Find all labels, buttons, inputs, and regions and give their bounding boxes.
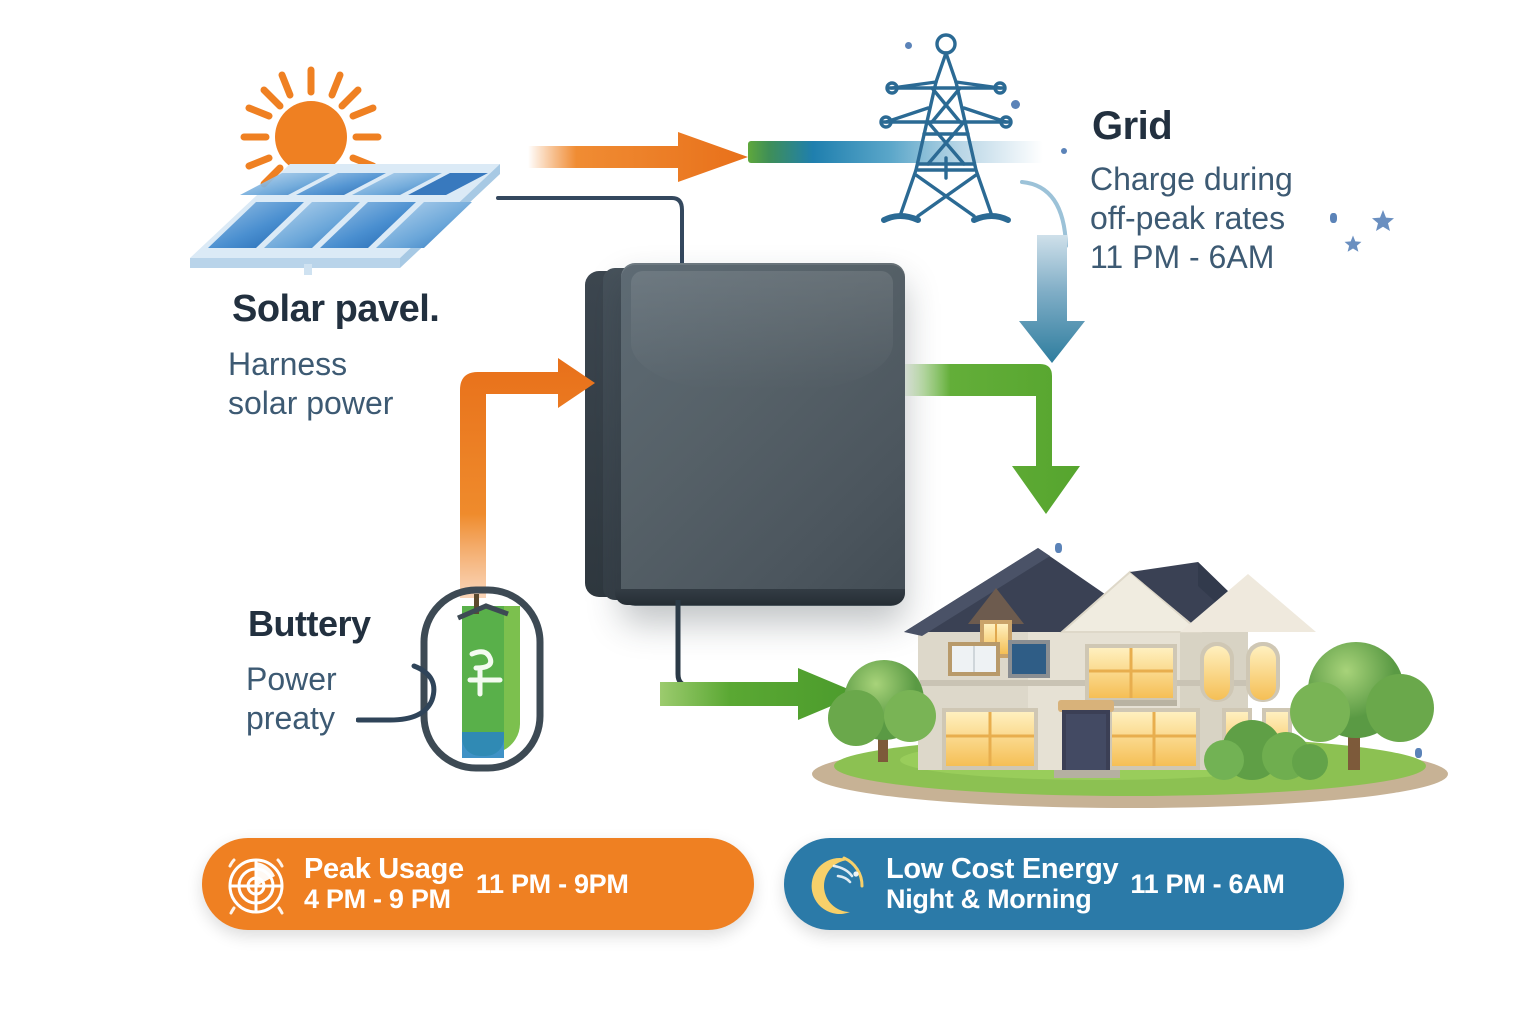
battery-title: Buttery xyxy=(248,603,371,645)
diagram-canvas: Solar pavel. Harness solar power xyxy=(0,0,1536,1024)
arrow-grid-down-icon xyxy=(1017,235,1087,365)
decor-dot xyxy=(1055,543,1062,553)
low-cost-energy-line1: Low Cost Energy xyxy=(886,854,1118,884)
connector-panel-to-unit xyxy=(496,192,686,272)
peak-usage-badge[interactable]: Peak Usage 4 PM - 9 PM 11 PM - 9PM xyxy=(202,838,754,930)
decor-dot xyxy=(1061,148,1067,154)
moon-icon xyxy=(804,850,872,918)
decor-dot xyxy=(905,42,912,49)
solar-panel-title: Solar pavel. xyxy=(232,288,439,331)
arrow-orange-elbow-icon xyxy=(450,358,595,598)
low-cost-energy-line2: Night & Morning xyxy=(886,884,1118,914)
solar-panel-icon xyxy=(178,140,508,275)
arrow-green-elbow-icon xyxy=(900,362,1085,522)
solar-panel-description: Harness solar power xyxy=(228,345,488,423)
low-cost-energy-badge[interactable]: Low Cost Energy Night & Morning 11 PM - … xyxy=(784,838,1344,930)
arrow-sun-to-grid-icon xyxy=(528,130,748,184)
star-icon xyxy=(1343,234,1363,259)
decor-dot xyxy=(1011,100,1020,109)
connector-battery-callout xyxy=(356,662,448,734)
low-cost-energy-time: 11 PM - 6AM xyxy=(1130,869,1284,900)
star-icon xyxy=(1370,208,1396,239)
transmission-tower-icon xyxy=(866,30,1026,245)
radar-dial-icon xyxy=(222,850,290,918)
grid-title: Grid xyxy=(1092,104,1172,149)
decor-dot xyxy=(1330,213,1337,223)
decor-dot xyxy=(1415,748,1422,758)
grid-description: Charge during off-peak rates 11 PM - 6AM xyxy=(1090,160,1390,277)
low-cost-energy-text: Low Cost Energy Night & Morning xyxy=(886,854,1118,914)
peak-usage-text: Peak Usage 4 PM - 9 PM xyxy=(304,854,464,914)
peak-usage-time: 11 PM - 9PM xyxy=(476,869,629,900)
peak-usage-line1: Peak Usage xyxy=(304,854,464,884)
peak-usage-line2: 4 PM - 9 PM xyxy=(304,884,464,914)
house-icon xyxy=(800,532,1460,812)
